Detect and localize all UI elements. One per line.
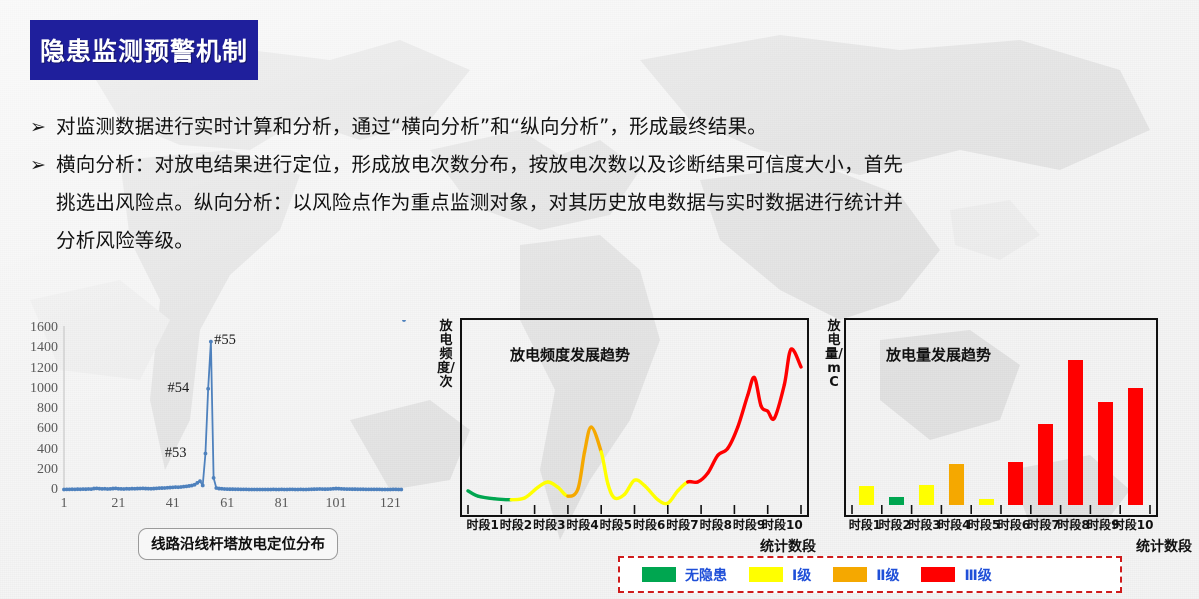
legend-item: Ⅲ级 (921, 565, 991, 585)
chart3-x-axis-label: 统计数段 (1136, 536, 1192, 556)
chart2-segment (791, 349, 801, 367)
chart2-segment (591, 427, 601, 452)
chart1-y-tick: 1000 (18, 381, 58, 397)
chart2-x-tick: 时段5 (600, 516, 632, 533)
chart1-y-tick: 1600 (18, 320, 58, 336)
chart3-bar (889, 497, 904, 505)
chart2-x-tick: 时段2 (500, 516, 532, 533)
chart3-x-tick: 时段6 (998, 516, 1030, 533)
chart2-x-tick: 时段9 (733, 516, 765, 533)
chart3-bar (919, 485, 934, 505)
chart3-x-tick: 时段2 (879, 516, 911, 533)
chart2-segment (774, 385, 784, 419)
chart1-annotation: #54 (167, 380, 189, 397)
bullet-marker-icon: ➢ (30, 148, 56, 182)
chart3-bar (979, 499, 994, 505)
chart1-y-tick: 400 (18, 442, 58, 458)
chart2-segment (625, 480, 635, 494)
chart1-y-tick: 600 (18, 421, 58, 437)
chart2-segment (738, 395, 748, 427)
chart3-x-tick: 时段4 (938, 516, 970, 533)
chart2-x-tick: 时段1 (466, 516, 498, 533)
chart1-y-tick: 1200 (18, 361, 58, 377)
chart3-bar (1128, 388, 1143, 505)
chart3-x-tick: 时段7 (1028, 516, 1060, 533)
chart1-y-tick: 0 (18, 482, 58, 498)
chart-discharge-frequency-trend: 放电频度/次 放电频度发展趋势 时段1时段2时段3时段4时段5时段6时段7时段8… (432, 312, 822, 552)
chart1-x-tick: 61 (220, 496, 234, 512)
chart3-bar (1038, 424, 1053, 505)
chart2-x-tick: 时段8 (700, 516, 732, 533)
legend-item: Ⅱ级 (833, 565, 899, 585)
chart2-segment (568, 489, 578, 496)
chart2-segment (748, 377, 755, 395)
chart2-segment (754, 378, 761, 406)
legend-color-swatch (833, 567, 867, 582)
chart2-segment (718, 448, 728, 455)
bullet-marker-icon: ➢ (30, 110, 56, 144)
chart2-segment (668, 491, 678, 503)
chart-discharge-quantity-trend: 放电量/mC 放电量发展趋势 时段1时段2时段3时段4时段5时段6时段7时段8时… (808, 312, 1198, 552)
chart2-x-tick: 时段7 (666, 516, 698, 533)
bullet-item: ➢ 对监测数据进行实时计算和分析，通过“横向分析”和“纵向分析”，形成最终结果。 (30, 110, 1170, 144)
chart1-series-line (64, 342, 401, 490)
chart1-x-tick: 121 (380, 496, 401, 512)
bullet-item: 分析风险等级。 (30, 224, 1170, 258)
chart3-bar (1068, 360, 1083, 505)
chart2-segment (708, 455, 718, 473)
chart2-segment (784, 349, 791, 384)
chart2-x-tick: 时段3 (533, 516, 565, 533)
chart3-bar (949, 464, 964, 505)
legend-label: Ⅲ级 (964, 565, 991, 585)
chart1-annotation: #55 (214, 332, 236, 349)
legend-label: Ⅰ级 (792, 565, 811, 585)
chart2-segment (698, 473, 708, 482)
chart3-bar (859, 486, 874, 505)
chart3-bar (1098, 402, 1113, 505)
chart1-x-tick: 101 (326, 496, 347, 512)
bullet-item: 挑选出风险点。纵向分析：以风险点作为重点监测对象，对其历史放电数据与实时数据进行… (30, 186, 1170, 220)
bullet-text: 分析风险等级。 (56, 224, 194, 258)
chart2-x-tick: 时段4 (566, 516, 598, 533)
bullet-text: 挑选出风险点。纵向分析：以风险点作为重点监测对象，对其历史放电数据与实时数据进行… (56, 186, 903, 220)
chart1-y-tick: 200 (18, 462, 58, 478)
legend-item: Ⅰ级 (749, 565, 811, 585)
legend-label: Ⅱ级 (876, 565, 899, 585)
chart2-segment (644, 486, 657, 500)
chart2-segment (635, 480, 645, 486)
chart2-title: 放电频度发展趋势 (510, 344, 630, 365)
legend-label: 无隐患 (685, 565, 727, 585)
chart2-segment (728, 427, 738, 448)
chart2-segment (495, 499, 512, 500)
chart3-x-tick: 时段8 (1057, 516, 1089, 533)
chart2-segment (478, 496, 495, 499)
chart-discharge-location-distribution: 0200400600800100012001400160012141618110… (18, 320, 408, 565)
chart1-plot-area: 0200400600800100012001400160012141618110… (18, 320, 408, 525)
legend-color-swatch (642, 567, 676, 582)
chart3-x-tick: 时段5 (968, 516, 1000, 533)
chart2-segment (585, 427, 592, 452)
chart2-y-axis-label: 放电频度/次 (436, 320, 456, 390)
bullet-text: 对监测数据进行实时计算和分析，通过“横向分析”和“纵向分析”，形成最终结果。 (56, 110, 767, 144)
chart3-y-axis-label: 放电量/mC (824, 320, 844, 390)
chart2-segment (558, 487, 568, 496)
legend-color-swatch (749, 567, 783, 582)
chart3-bar (1008, 462, 1023, 505)
chart3-x-tick: 时段3 (908, 516, 940, 533)
legend-item: 无隐患 (642, 565, 727, 585)
bullet-text: 横向分析：对放电结果进行定位，形成放电次数分布，按放电次数以及诊断结果可信度大小… (56, 148, 903, 182)
chart1-y-tick: 800 (18, 401, 58, 417)
chart1-x-tick: 21 (111, 496, 125, 512)
chart2-segment (525, 487, 538, 498)
risk-level-legend: 无隐患Ⅰ级Ⅱ级Ⅲ级 (618, 556, 1122, 593)
page-title: 隐患监测预警机制 (40, 32, 248, 68)
chart2-x-tick: 时段10 (762, 516, 803, 533)
chart2-segment (678, 482, 688, 491)
chart3-title: 放电量发展趋势 (886, 344, 991, 365)
chart1-annotation: #53 (165, 445, 187, 462)
chart2-segment (608, 484, 615, 498)
chart2-segment (511, 498, 524, 500)
chart1-y-tick: 1400 (18, 340, 58, 356)
chart2-segment (601, 452, 608, 484)
chart3-x-tick: 时段1 (849, 516, 881, 533)
chart1-svg (18, 320, 408, 525)
chart1-x-tick: 41 (166, 496, 180, 512)
chart1-caption: 线路沿线杆塔放电定位分布 (138, 528, 338, 560)
chart3-x-tick: 时段10 (1113, 516, 1154, 533)
legend-color-swatch (921, 567, 955, 582)
bullet-list: ➢ 对监测数据进行实时计算和分析，通过“横向分析”和“纵向分析”，形成最终结果。… (30, 110, 1170, 262)
chart1-x-tick: 1 (61, 496, 68, 512)
slide-title-banner: 隐患监测预警机制 (30, 20, 258, 80)
chart2-segment (578, 452, 585, 489)
chart2-x-tick: 时段6 (633, 516, 665, 533)
chart1-x-tick: 81 (275, 496, 289, 512)
bullet-item: ➢ 横向分析：对放电结果进行定位，形成放电次数分布，按放电次数以及诊断结果可信度… (30, 148, 1170, 182)
